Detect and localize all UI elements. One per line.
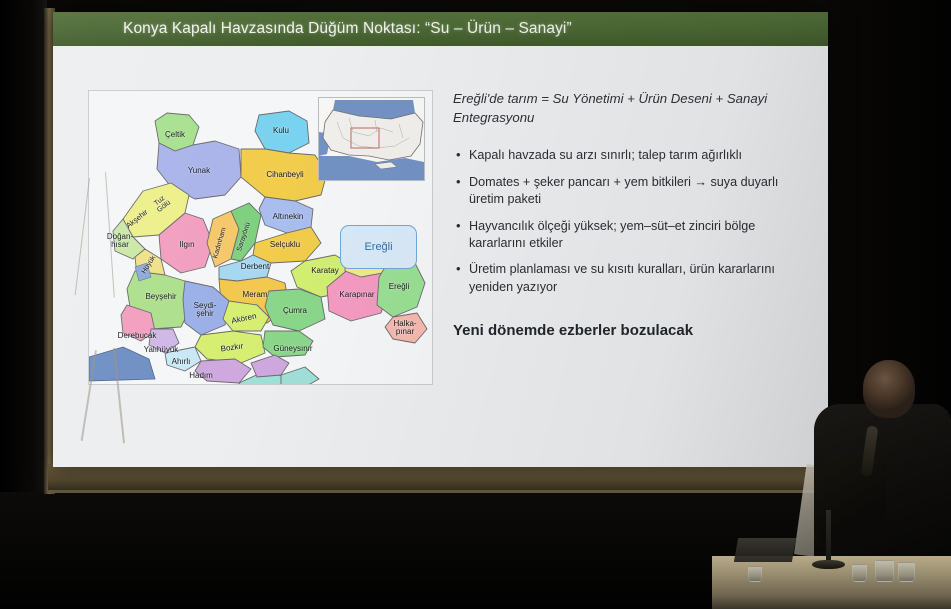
map-label-celtik: Çeltik: [165, 131, 185, 139]
presenter-head: [863, 360, 915, 418]
water-glass-3: [852, 564, 867, 582]
laptop-device: [734, 538, 796, 562]
slide-lead-equation: Ereğli'de tarım = Su Yönetimi + Ürün Des…: [453, 90, 801, 127]
map-label-selcuklu: Selçuklu: [270, 241, 300, 249]
projection-screen-frame-bottom: [48, 464, 838, 493]
map-label-eregli-district: Ereğli: [389, 283, 409, 291]
water-glass-4: [748, 566, 762, 582]
turkey-locator-inset: [318, 97, 425, 181]
map-label-meram: Meram: [243, 291, 268, 299]
presenter-speaker: [800, 352, 951, 562]
bullet-item-4: Üretim planlaması ve su kısıtı kuralları…: [453, 261, 801, 296]
map-label-derbent: Derbent: [241, 263, 269, 271]
presentation-slide: Konya Kapalı Havzasında Düğüm Noktası: “…: [53, 12, 828, 467]
map-label-altinekin: Altınekin: [273, 213, 304, 221]
slide-title-bar: Konya Kapalı Havzasında Düğüm Noktası: “…: [53, 12, 828, 46]
slide-title: Konya Kapalı Havzasında Düğüm Noktası: “…: [123, 20, 572, 38]
map-label-ahirli: Ahırlı: [172, 358, 191, 366]
table-mic-base: [812, 560, 845, 569]
map-label-derebucak: Derebucak: [118, 332, 157, 340]
slide-text-column: Ereğli'de tarım = Su Yönetimi + Ürün Des…: [453, 90, 801, 339]
map-label-hadim: Hadım: [189, 372, 213, 380]
water-glass-2: [898, 562, 915, 582]
bullet-item-2: Domates + şeker pancarı + yem bitkileri …: [453, 174, 801, 209]
map-label-beysehir: Beyşehir: [145, 293, 176, 301]
map-label-ilgin: Ilgın: [179, 241, 194, 249]
eregli-callout-label: Ereğli: [364, 241, 392, 253]
bullet-item-3: Hayvancılık ölçeği yüksek; yem–süt–et zi…: [453, 218, 801, 253]
map-label-yunak: Yunak: [188, 167, 210, 175]
map-label-kulu: Kulu: [273, 127, 289, 135]
slide-body: Çeltik Yunak Kulu Cihanbeyli Tuz Gölü Ak…: [53, 46, 828, 467]
map-label-guneysinir: Güneysınır: [273, 345, 312, 353]
table-mic-stand: [826, 510, 831, 566]
map-label-cihanbeyli: Cihanbeyli: [266, 171, 303, 179]
map-label-halkapinar: Halka- pınar: [393, 320, 416, 336]
eregli-callout-box[interactable]: Ereğli: [340, 225, 417, 269]
water-glass-1: [875, 560, 894, 582]
konya-district-map-panel: Çeltik Yunak Kulu Cihanbeyli Tuz Gölü Ak…: [88, 90, 433, 385]
map-label-cumra: Çumra: [283, 307, 307, 315]
map-stage: Çeltik Yunak Kulu Cihanbeyli Tuz Gölü Ak…: [89, 91, 432, 384]
map-label-karatay: Karatay: [311, 267, 339, 275]
bullet-item-1: Kapalı havzada su arzı sınırlı; talep ta…: [453, 147, 801, 164]
map-label-yalihuyuk: Yalıhüyük: [144, 346, 179, 354]
map-label-karapinar: Karapınar: [339, 291, 374, 299]
map-label-seydisehir: Seydi- şehir: [194, 302, 217, 318]
slide-bullet-list: Kapalı havzada su arzı sınırlı; talep ta…: [453, 147, 801, 296]
slide-kicker-statement: Yeni dönemde ezberler bozulacak: [453, 322, 801, 339]
turkey-locator-svg: [319, 98, 424, 180]
